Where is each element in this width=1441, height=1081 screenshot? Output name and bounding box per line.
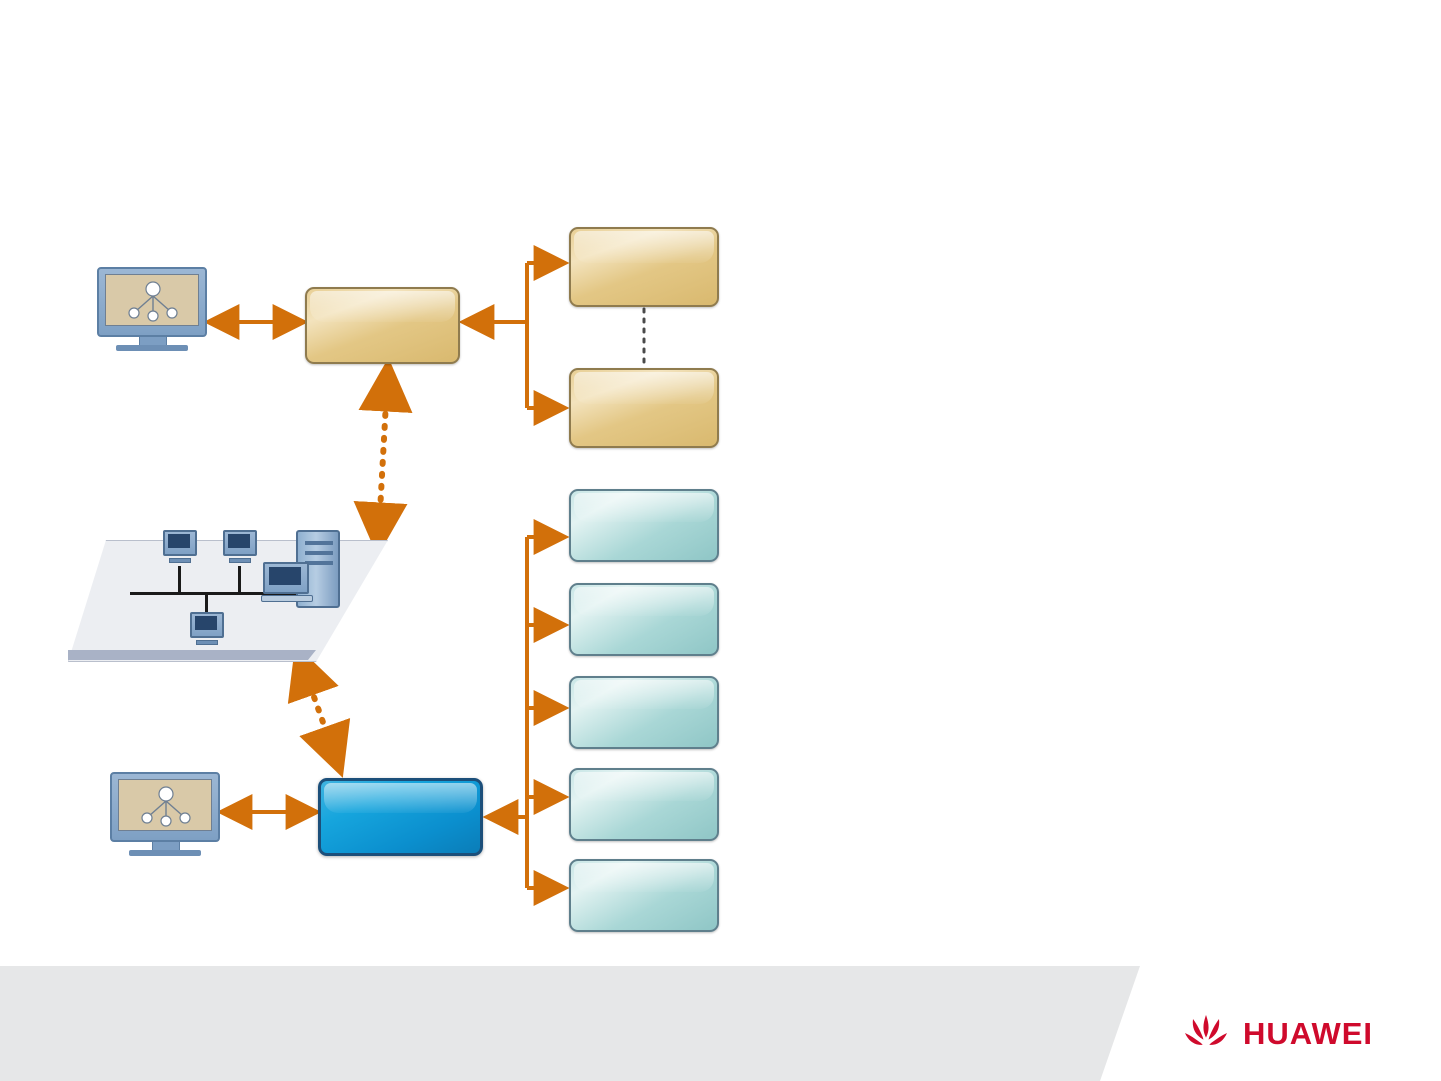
wire-lan-to-blue-box-dashed xyxy=(298,652,340,770)
mini-screen-area xyxy=(168,534,190,548)
box-gloss xyxy=(574,493,714,522)
box-gloss xyxy=(574,680,714,709)
lan-workstation-3 xyxy=(190,612,224,648)
wire-blue-box-to-teal-bus xyxy=(488,537,564,888)
box-gloss xyxy=(574,587,714,616)
box-gloss xyxy=(574,372,714,404)
wire-center-box-to-tan-bus xyxy=(464,263,564,408)
box-gloss xyxy=(574,863,714,892)
server-slot xyxy=(305,551,333,555)
lan-workstation-1 xyxy=(163,530,197,566)
terminal-bottom-icon xyxy=(110,772,220,857)
console-keyboard xyxy=(261,595,313,602)
monitor-screen xyxy=(105,274,199,326)
box-gloss xyxy=(574,772,714,801)
box-teal-4[interactable] xyxy=(569,768,719,841)
lan-server-console xyxy=(263,562,309,602)
box-tan-1[interactable] xyxy=(569,227,719,307)
console-screen-area xyxy=(269,567,301,585)
box-teal-5[interactable] xyxy=(569,859,719,932)
slide-canvas: HUAWEI xyxy=(0,0,1441,1081)
lan-drop-line-3 xyxy=(205,592,208,614)
lan-cluster-icon xyxy=(68,500,388,665)
terminal-top-icon xyxy=(97,267,207,352)
huawei-wordmark: HUAWEI xyxy=(1243,1016,1373,1052)
box-top-center[interactable] xyxy=(305,287,460,364)
box-teal-3[interactable] xyxy=(569,676,719,749)
mini-monitor-base xyxy=(229,558,251,563)
lan-floor-edge xyxy=(68,650,316,660)
box-tan-2[interactable] xyxy=(569,368,719,448)
box-teal-2[interactable] xyxy=(569,583,719,656)
monitor-screen xyxy=(118,779,212,831)
monitor-stand xyxy=(139,337,167,345)
mini-screen-area xyxy=(228,534,250,548)
box-blue-main[interactable] xyxy=(318,778,483,856)
monitor-base xyxy=(116,345,189,351)
box-gloss xyxy=(324,783,477,813)
mini-monitor-base xyxy=(196,640,218,645)
lan-workstation-2 xyxy=(223,530,257,566)
monitor-base xyxy=(129,850,202,856)
lan-drop-line-1 xyxy=(178,566,181,592)
mini-monitor-base xyxy=(169,558,191,563)
box-teal-1[interactable] xyxy=(569,489,719,562)
box-gloss xyxy=(310,291,455,322)
box-gloss xyxy=(574,231,714,263)
server-slot xyxy=(305,561,333,565)
monitor-stand xyxy=(152,842,180,850)
user-network-glyph xyxy=(106,275,199,326)
user-network-glyph xyxy=(119,780,212,831)
mini-screen-area xyxy=(195,616,217,630)
huawei-flower-icon xyxy=(1183,1011,1229,1057)
huawei-logo: HUAWEI xyxy=(1183,1008,1403,1060)
lan-drop-line-2 xyxy=(238,566,241,592)
server-slot xyxy=(305,541,333,545)
